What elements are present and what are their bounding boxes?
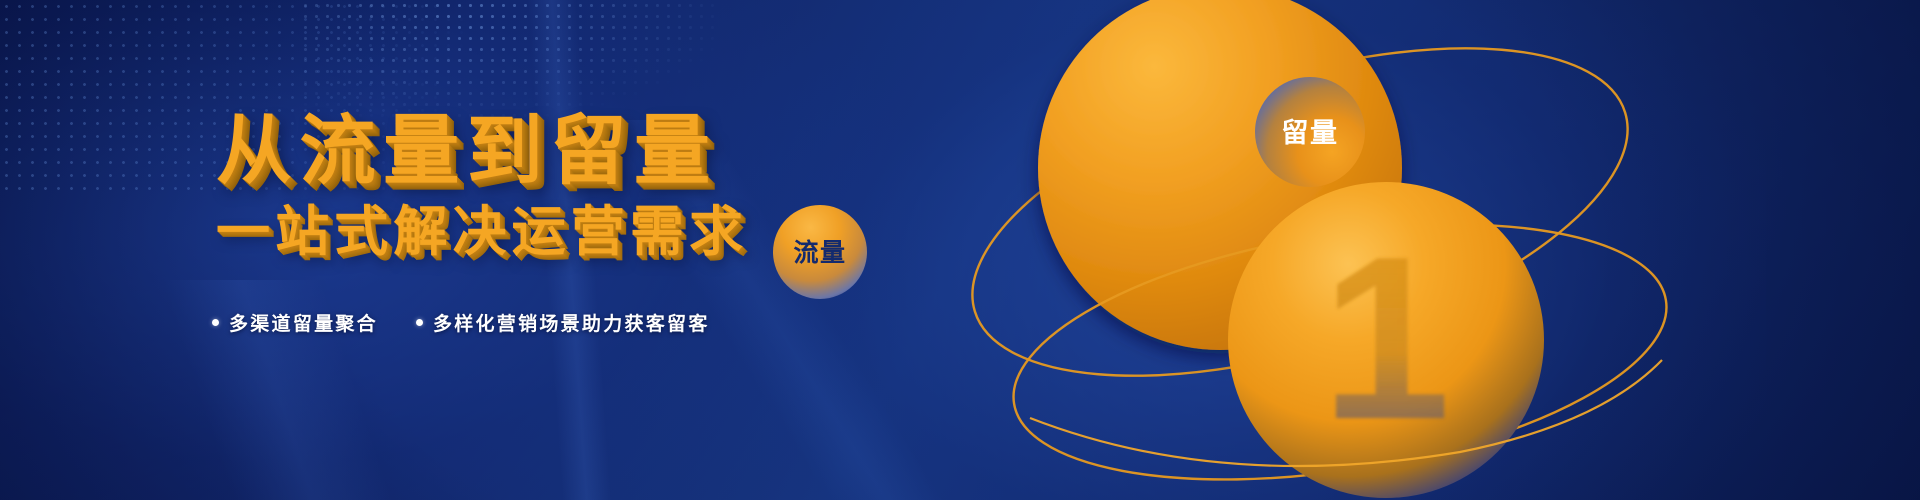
copy-block: 从流量到留量 一站式解决运营需求 多渠道留量聚合 多样化营销场景助力获客留客 [0,0,760,500]
numeral-one: 1 [1321,209,1450,468]
numeral-badge: 1 [1321,209,1450,468]
hero-illustration: 1 流量 留量 [700,0,1920,500]
bullet-dot-icon [416,319,423,326]
sphere-small-retain-label: 留量 [1281,118,1338,148]
feature-bullet-label: 多渠道留量聚合 [229,309,378,336]
feature-bullet-label: 多样化营销场景助力获客留客 [433,309,710,336]
sphere-small-liuliang-label: 流量 [793,239,846,267]
feature-bullet-item: 多渠道留量聚合 [212,309,378,336]
promo-banner: 从流量到留量 一站式解决运营需求 多渠道留量聚合 多样化营销场景助力获客留客 [0,0,1920,500]
headline-secondary: 一站式解决运营需求 [216,205,748,259]
feature-bullet-item: 多样化营销场景助力获客留客 [416,309,710,336]
headline-primary: 从流量到留量 [216,114,718,190]
feature-bullet-list: 多渠道留量聚合 多样化营销场景助力获客留客 [212,309,710,336]
bullet-dot-icon [212,319,219,326]
